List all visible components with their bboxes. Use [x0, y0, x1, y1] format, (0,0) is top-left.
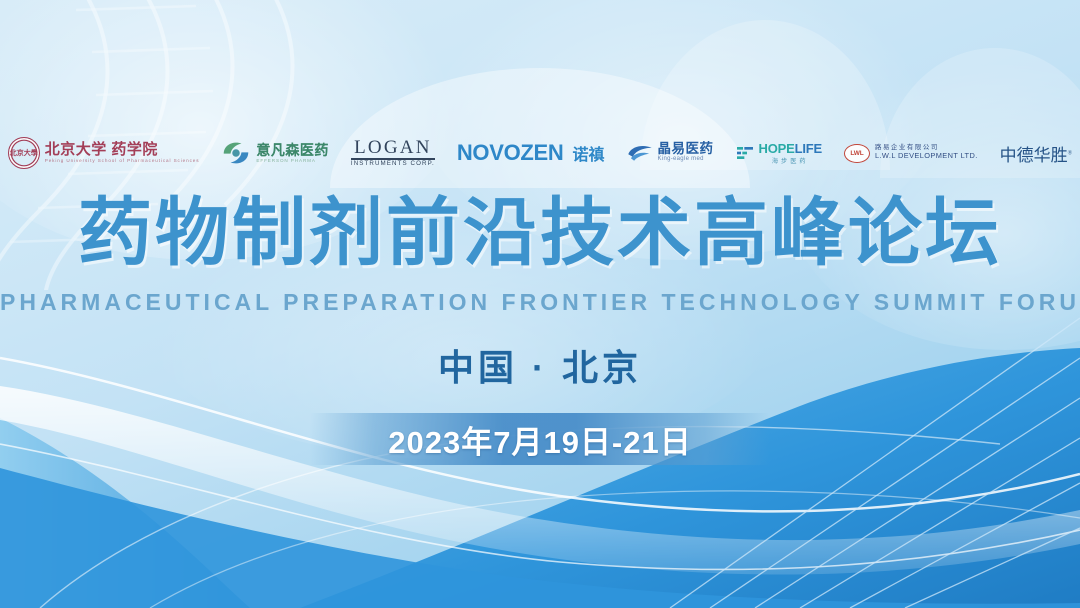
logo-label-cn: 中德华胜	[1000, 146, 1068, 165]
lwl-mark-icon: LWL	[844, 144, 870, 163]
logo-label-en: L.W.L DEVELOPMENT LTD.	[875, 152, 978, 161]
logo-efferson-pharma: 意凡森医药 EFFERSON PHARMA	[221, 132, 329, 174]
date-banner: 2023年7月19日-21日	[310, 413, 770, 465]
pku-seal-icon: 北京大學	[8, 137, 40, 169]
hopelife-mark-icon	[736, 145, 754, 161]
logo-label-en: King-eagle med	[658, 156, 714, 163]
poster-title-cn: 药物制剂前沿技术高峰论坛	[0, 196, 1080, 270]
poster-date: 2023年7月19日-21日	[388, 417, 692, 462]
logo-label-en-part2: LIFE	[795, 141, 822, 156]
king-eagle-mark-icon	[627, 143, 653, 163]
logo-king-eagle-med: 晶易医药 King-eagle med	[627, 132, 714, 174]
logo-logan-instruments: LOGAN INSTRUMENTS CORP.	[351, 132, 435, 174]
logo-label-en-part1: HOPE	[759, 141, 795, 156]
registered-mark: ®	[1068, 150, 1073, 156]
logo-label-cn: 意凡森医药	[256, 143, 329, 158]
logo-label-en: NOVOZEN	[457, 140, 564, 166]
sponsor-logo-strip: 北京大學 北京大学 药学院 Peking University School o…	[0, 130, 1080, 176]
logo-label-en: HOPELIFE	[759, 141, 822, 156]
logo-label-name: LOGAN	[354, 138, 432, 157]
logo-label-en: EFFERSON PHARMA	[256, 158, 329, 164]
logo-lwl-development: LWL 路易企业有限公司 L.W.L DEVELOPMENT LTD.	[844, 132, 978, 174]
logo-peking-university-school-of-pharmaceutical-sciences: 北京大學 北京大学 药学院 Peking University School o…	[8, 132, 200, 174]
conference-poster: 北京大學 北京大学 药学院 Peking University School o…	[0, 0, 1080, 608]
logo-zhongde-huasheng: 中德华胜®	[1000, 132, 1073, 174]
logo-label-cn: 海步医药	[759, 156, 822, 165]
logo-novozen: NOVOZEN 诺禛	[457, 132, 605, 174]
logo-label-cn: 北京大学 药学院	[45, 142, 200, 158]
logo-hopelife: HOPELIFE 海步医药	[736, 132, 822, 174]
poster-title-en: PHARMACEUTICAL PREPARATION FRONTIER TECH…	[0, 289, 1080, 316]
poster-location: 中国 · 北京	[0, 339, 1080, 391]
logo-label-cn: 诺禛	[573, 141, 605, 165]
pku-seal-text: 北京大學	[10, 150, 38, 157]
logo-label-sub: INSTRUMENTS CORP.	[351, 161, 435, 167]
efferson-mark-icon	[221, 140, 251, 166]
logo-label-en: Peking University School of Pharmaceutic…	[45, 158, 200, 164]
logo-label-cn: 晶易医药	[658, 142, 714, 156]
lwl-mark-text: LWL	[850, 150, 863, 157]
